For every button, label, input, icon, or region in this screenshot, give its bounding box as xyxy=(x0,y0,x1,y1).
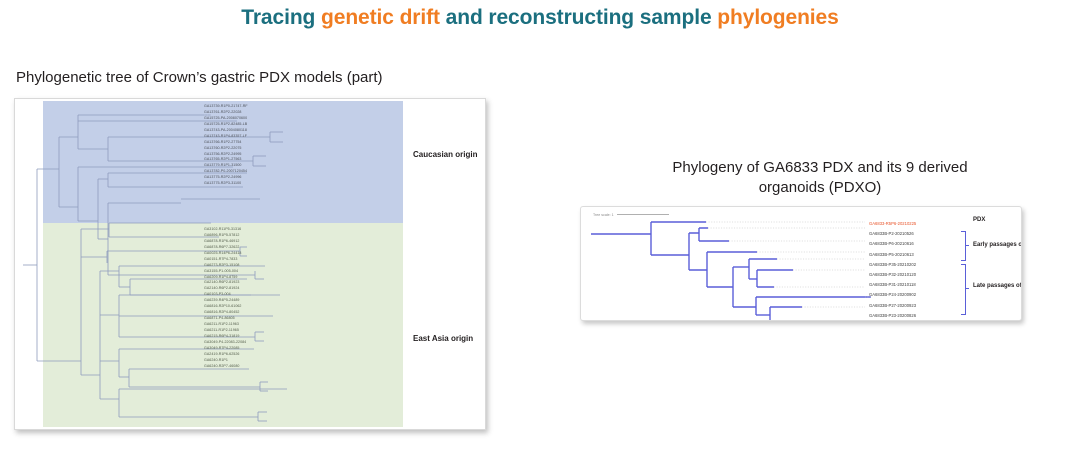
pdxo-leaf-label: GA6833B-P23-20200826 xyxy=(869,311,989,321)
bracket-early-passages xyxy=(961,231,966,261)
title-segment-genetic-drift: genetic drift xyxy=(321,6,440,29)
title-segment-tracing: Tracing xyxy=(241,6,321,29)
title-segment-reconstructing: and reconstructing sample xyxy=(440,6,717,29)
pdxo-leaf-label: GA6833B-P2-20210526 xyxy=(869,229,989,239)
pdxo-leaf-label: GA6833B-P6-20210616 xyxy=(869,239,989,249)
pdxo-leaf-label: GA6833B-P31-20210118 xyxy=(869,280,989,290)
pdxo-leaf-label: GA6833B-P24-20200902 xyxy=(869,290,989,300)
clade-label-caucasian: Caucasian origin xyxy=(413,150,477,159)
leaf-label-list-caucasian: GA13739-R1P0-21747-RF GA13761-R2P2-22028… xyxy=(204,104,354,187)
gastric-pdx-tree-figure: GA13739-R1P0-21747-RF GA13761-R2P2-22028… xyxy=(14,98,486,430)
pdxo-leaf-label: GA6833B-P5-20210613 xyxy=(869,250,989,260)
clade-label-east-asia: East Asia origin xyxy=(413,334,473,343)
bracket-tick-late xyxy=(965,288,969,289)
right-panel: Phylogeny of GA6833 PDX and its 9 derive… xyxy=(570,158,1070,368)
pdxo-leaf-label: GA6833B-P27-20200923 xyxy=(869,301,989,311)
pdxo-phylogeny-figure: Tree scale: 1 xyxy=(580,206,1022,321)
bracket-late-passages xyxy=(961,264,966,315)
page-title: Tracing genetic drift and reconstructing… xyxy=(0,6,1080,30)
right-panel-caption: Phylogeny of GA6833 PDX and its 9 derive… xyxy=(610,158,1030,198)
pdxo-leaf-label: GA6833B-P35-20210202 xyxy=(869,260,989,270)
leaf-label: GA6240-R2P7-46080 xyxy=(204,364,354,370)
group-label-early-passages: Early passages of PDXO xyxy=(973,242,1022,248)
group-label-pdx: PDX xyxy=(973,217,985,223)
right-caption-line2: organoids (PDXO) xyxy=(759,179,882,196)
left-panel: Phylogenetic tree of Crown’s gastric PDX… xyxy=(14,68,514,448)
group-label-late-passages: Late passages of PDXO xyxy=(973,283,1022,289)
leaf-label-list-east-asia: GA3102-R11P5-31316 GA6896-R1P5-57812 GA6… xyxy=(204,227,354,370)
left-panel-caption: Phylogenetic tree of Crown’s gastric PDX… xyxy=(16,68,514,88)
pdxo-leaf-label-pdx: GA6833-R5P6-20210225 xyxy=(869,219,989,229)
leaf-label: GA13775-R2P3-31100 xyxy=(204,181,354,187)
pdxo-leaf-label-list: GA6833-R5P6-20210225 GA6833B-P2-20210526… xyxy=(869,219,989,321)
right-caption-line1: Phylogeny of GA6833 PDX and its 9 derive… xyxy=(672,159,967,176)
pdxo-leaf-label: GA6833B-P32-20210120 xyxy=(869,270,989,280)
title-segment-phylogenies: phylogenies xyxy=(717,6,838,29)
bracket-tick-early xyxy=(965,245,969,246)
